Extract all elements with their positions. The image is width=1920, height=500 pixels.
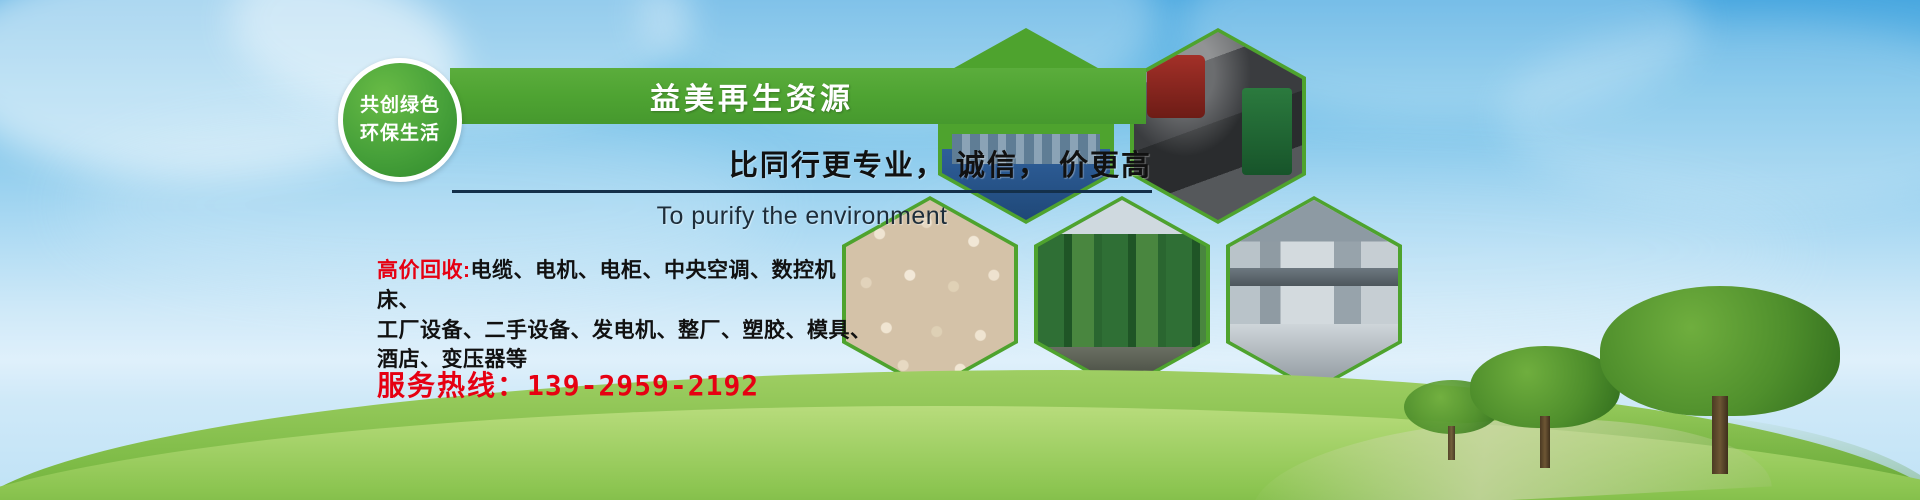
tree-large-icon bbox=[1600, 286, 1840, 476]
eco-slogan-badge: 共创绿色 环保生活 bbox=[338, 58, 462, 182]
slogan-english: To purify the environment bbox=[452, 202, 1152, 231]
services-label: 高价回收: bbox=[377, 259, 471, 282]
photo-hex-commercial-kitchen bbox=[1226, 196, 1402, 392]
company-title-bar: 益美再生资源 bbox=[450, 68, 1146, 124]
services-line-1: 高价回收:电缆、电机、电柜、中央空调、数控机床、 bbox=[377, 256, 877, 316]
services-list: 高价回收:电缆、电机、电柜、中央空调、数控机床、 工厂设备、二手设备、发电机、整… bbox=[377, 256, 877, 375]
hotline-number[interactable]: 139-2959-2192 bbox=[527, 369, 759, 402]
photo-frame bbox=[1134, 32, 1302, 220]
company-title: 益美再生资源 bbox=[650, 74, 854, 118]
slogan-divider bbox=[452, 190, 1152, 193]
recycling-company-banner: 共创绿色 环保生活 益美再生资源 比同行更专业， 诚信， 价更高 To puri… bbox=[0, 0, 1920, 500]
badge-line-1: 共创绿色 bbox=[360, 92, 440, 120]
services-line-2: 工厂设备、二手设备、发电机、整厂、塑胶、模具、 bbox=[377, 316, 877, 346]
tree-trunk bbox=[1540, 416, 1550, 468]
tree-trunk bbox=[1448, 426, 1455, 460]
tree-medium-icon bbox=[1470, 346, 1620, 466]
photo-frame bbox=[1230, 200, 1398, 388]
tree-trunk bbox=[1712, 396, 1728, 474]
hotline-label: 服务热线： bbox=[377, 369, 527, 402]
slogan-chinese: 比同行更专业， 诚信， 价更高 bbox=[452, 138, 1152, 190]
slogan-block: 比同行更专业， 诚信， 价更高 To purify the environmen… bbox=[452, 138, 1152, 231]
badge-line-2: 环保生活 bbox=[360, 120, 440, 148]
commercial-kitchen-image bbox=[1230, 200, 1398, 388]
hotline-block[interactable]: 服务热线：139-2959-2192 bbox=[377, 364, 759, 404]
diesel-engine-image bbox=[1134, 32, 1302, 220]
photo-hex-diesel-engine bbox=[1130, 28, 1306, 224]
